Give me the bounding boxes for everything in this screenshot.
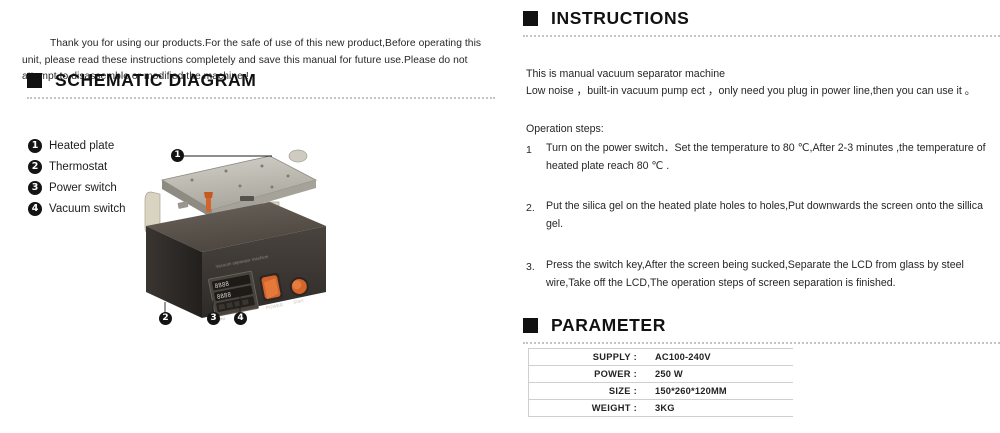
svg-text:PV: PV <box>220 317 226 322</box>
schematic-heading-row: SCHEMATIC DIAGRAM <box>27 70 495 91</box>
list-item: 3. Press the switch key,After the screen… <box>526 257 996 292</box>
product-blurb: This is manual vacuum separator machine … <box>526 66 996 100</box>
left-column: Thank you for using our products.For the… <box>0 0 500 433</box>
table-cell-key: SIZE : <box>529 383 647 400</box>
operation-steps-title: Operation steps: <box>526 123 604 135</box>
machine-drawing: Vacuum separator machine 8888 8888 PV SV <box>120 140 330 330</box>
legend-label: Power switch <box>49 182 117 194</box>
list-item: 1 Turn on the power switch．Set the tempe… <box>526 140 996 175</box>
callout-badge-3: 3 <box>207 312 220 325</box>
step-text: Press the switch key,After the screen be… <box>546 257 996 292</box>
instructions-heading-text: INSTRUCTIONS <box>551 8 689 29</box>
table-cell-value: 250 W <box>646 366 793 383</box>
table-cell-value: 3KG <box>646 400 793 417</box>
parameter-heading-row: PARAMETER <box>523 315 1000 336</box>
instructions-heading-row: INSTRUCTIONS <box>523 8 1000 29</box>
step-number: 3. <box>526 257 540 292</box>
black-square-bullet-icon <box>523 318 538 333</box>
legend-label: Heated plate <box>49 140 114 152</box>
legend-label: Vacuum switch <box>49 203 125 215</box>
table-cell-value: AC100-240V <box>646 349 793 366</box>
numbered-badge-icon: 4 <box>28 202 42 216</box>
table-row: POWER : 250 W <box>529 366 794 383</box>
blurb-line-2: Low noise ，built-in vacuum pump ect ，onl… <box>526 83 996 100</box>
blurb-line-1: This is manual vacuum separator machine <box>526 66 996 83</box>
table-cell-key: SUPPLY : <box>529 349 647 366</box>
list-item: 2. Put the silica gel on the heated plat… <box>526 198 996 233</box>
instructions-heading-divider <box>523 35 1000 38</box>
right-column: INSTRUCTIONS This is manual vacuum separ… <box>516 0 1000 433</box>
step-number: 1 <box>526 140 540 175</box>
schematic-heading-text: SCHEMATIC DIAGRAM <box>55 70 256 91</box>
machine-illustration: Vacuum separator machine 8888 8888 PV SV <box>120 140 330 330</box>
section-instructions: INSTRUCTIONS <box>523 8 1000 38</box>
numbered-badge-icon: 1 <box>28 139 42 153</box>
callout-badge-1: 1 <box>171 149 184 162</box>
parameter-heading-text: PARAMETER <box>551 315 666 336</box>
table-row: SIZE : 150*260*120MM <box>529 383 794 400</box>
svg-text:Start: Start <box>293 298 305 305</box>
section-parameter: PARAMETER <box>523 315 1000 345</box>
table-cell-key: POWER : <box>529 366 647 383</box>
callout-badge-4: 4 <box>234 312 247 325</box>
callout-badge-2: 2 <box>159 312 172 325</box>
section-schematic-diagram: SCHEMATIC DIAGRAM <box>27 70 495 100</box>
step-number: 2. <box>526 198 540 233</box>
table-cell-key: WEIGHT : <box>529 400 647 417</box>
schematic-heading-divider <box>27 97 495 100</box>
table-row: SUPPLY : AC100-240V <box>529 349 794 366</box>
parameter-table: SUPPLY : AC100-240V POWER : 250 W SIZE :… <box>528 348 793 417</box>
parameter-heading-divider <box>523 342 1000 345</box>
step-text: Put the silica gel on the heated plate h… <box>546 198 996 233</box>
black-square-bullet-icon <box>523 11 538 26</box>
step-text: Turn on the power switch．Set the tempera… <box>546 140 996 175</box>
table-row: WEIGHT : 3KG <box>529 400 794 417</box>
numbered-badge-icon: 2 <box>28 160 42 174</box>
legend-label: Thermostat <box>49 161 107 173</box>
numbered-badge-icon: 3 <box>28 181 42 195</box>
table-cell-value: 150*260*120MM <box>646 383 793 400</box>
black-square-bullet-icon <box>27 73 42 88</box>
